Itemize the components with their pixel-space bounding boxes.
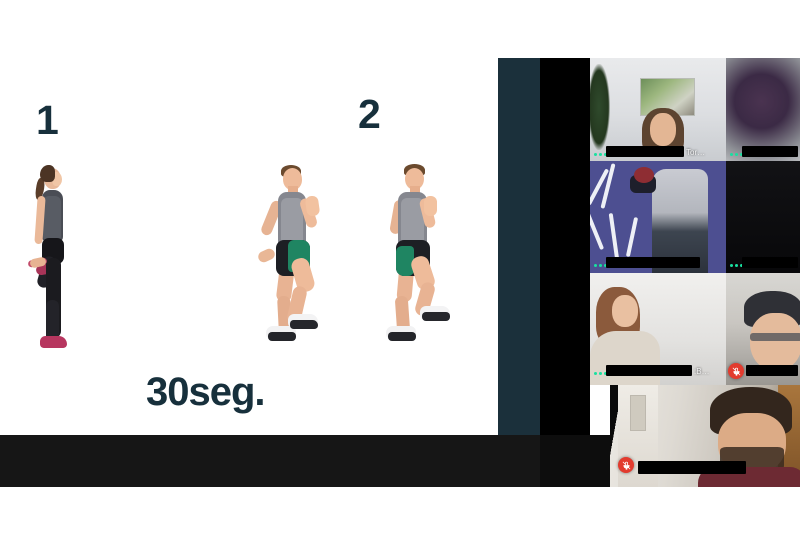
christmas-tree: [590, 64, 610, 150]
participant-face: [750, 313, 800, 371]
figure-front-hand: [424, 196, 437, 216]
duration-label: 30seg.: [146, 370, 265, 415]
mic-muted-icon[interactable]: [618, 457, 634, 473]
fern-leaf: [590, 208, 604, 250]
participant-name-redacted: [742, 146, 798, 157]
stage-filler-column: [540, 58, 590, 435]
figure-top: [43, 196, 61, 242]
participant-grid: Tor…: [590, 58, 800, 385]
participant-name-redacted: [606, 365, 692, 376]
participant-sweater: [590, 331, 660, 385]
participant-name-redacted: [638, 461, 746, 474]
participant-tile-1[interactable]: Tor…: [590, 58, 726, 161]
step-number-1: 1: [36, 100, 58, 141]
figure-front-sole: [290, 320, 318, 329]
figure-back-sole: [268, 332, 296, 341]
participant-tile-7[interactable]: [610, 385, 800, 487]
step-number-2: 2: [358, 94, 380, 135]
participant-tile-5[interactable]: :B…: [590, 273, 726, 385]
wall-frame: [630, 395, 646, 431]
participant-tile-6[interactable]: [726, 273, 800, 385]
figure-hair: [40, 165, 55, 182]
stage-left-panel: [498, 58, 540, 435]
app-window: 1 2: [0, 0, 800, 541]
participant-name-redacted: [742, 257, 798, 268]
participant-face: [650, 113, 676, 146]
figure-back-hand: [256, 247, 276, 264]
participant-name-redacted: [606, 257, 700, 268]
participant-tile-4[interactable]: [726, 161, 800, 273]
figure-back-sole: [388, 332, 416, 341]
fern-leaf: [626, 217, 638, 257]
figure-front-hand: [305, 195, 321, 217]
participant-name-visible: Tor…: [686, 147, 705, 158]
stage-bottom-bar-dark: [540, 435, 620, 487]
fern-leaf: [609, 213, 620, 261]
shared-screen-slide[interactable]: 1 2: [0, 0, 498, 435]
stage-bottom-bar: [0, 435, 620, 487]
participant-hat: [634, 167, 654, 183]
figure-front-sole: [422, 312, 450, 321]
participant-face: [612, 295, 638, 327]
figure-shoe: [40, 336, 67, 348]
participant-name-redacted: [606, 146, 684, 157]
participant-tile-3[interactable]: [590, 161, 726, 273]
participant-name-redacted: [746, 365, 798, 376]
eyeglasses: [750, 333, 800, 341]
participant-name-visible: :B…: [694, 366, 710, 377]
mic-muted-icon[interactable]: [728, 363, 744, 379]
participant-tile-2[interactable]: [726, 58, 800, 161]
